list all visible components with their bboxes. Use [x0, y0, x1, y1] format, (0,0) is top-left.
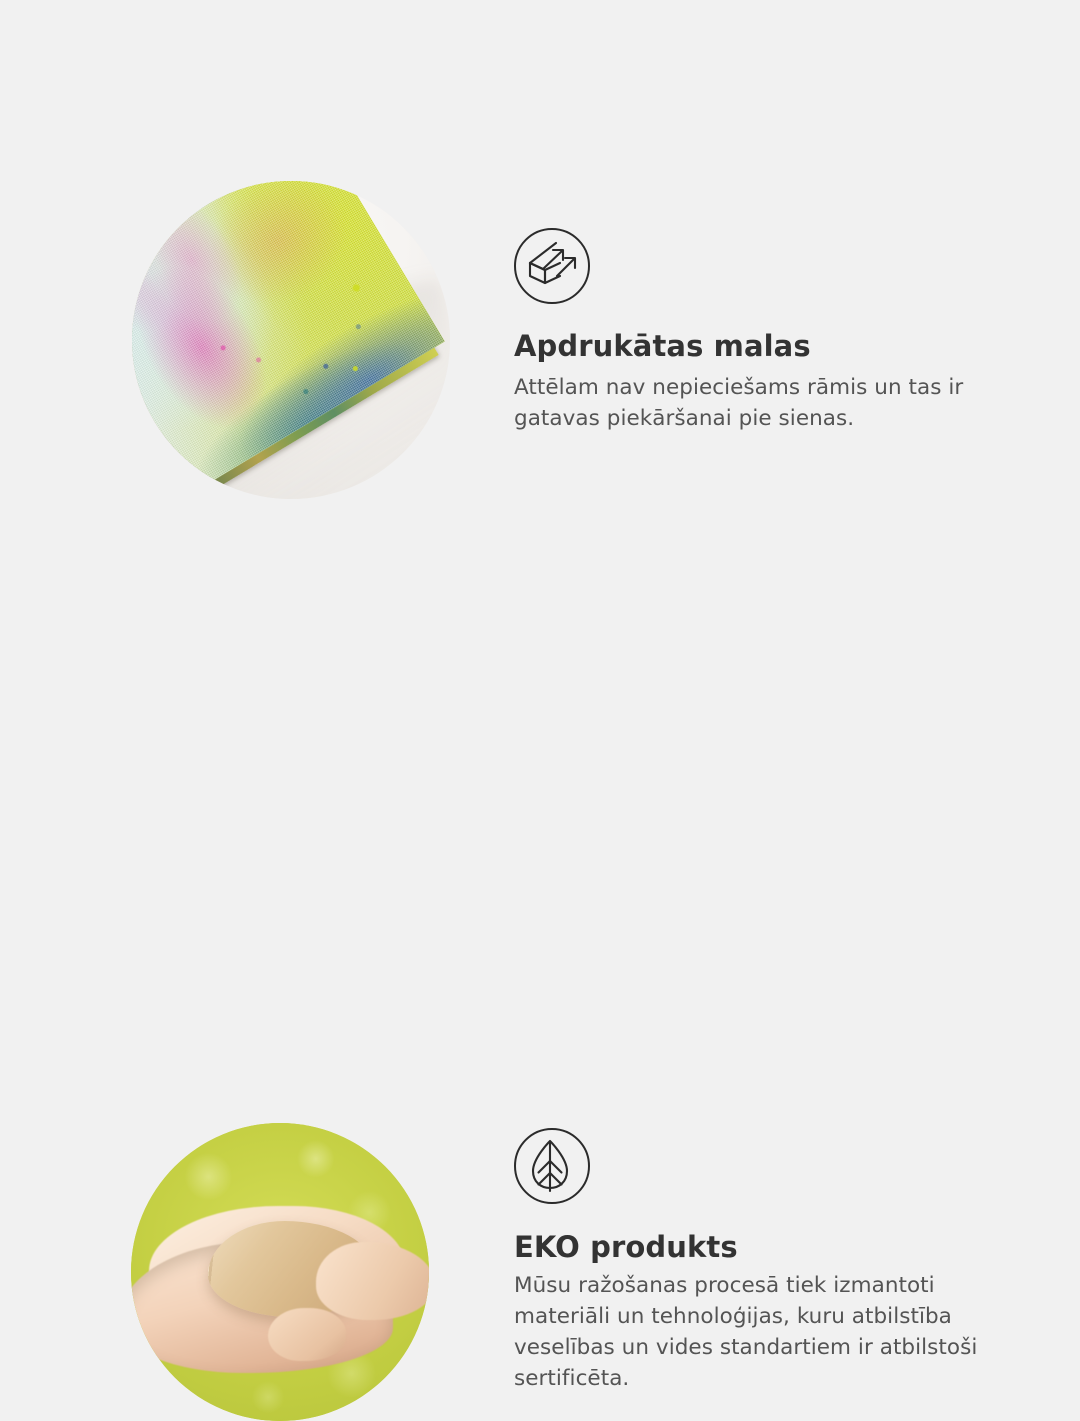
printed-canvas-edge-icon	[514, 228, 590, 304]
feature-block-eco: EKO produkts Mūsu ražošanas procesā tiek…	[0, 540, 1080, 1080]
feature-title: Apdrukātas malas	[514, 329, 1014, 363]
feature-description: Attēlam nav nepieciešams rāmis un tas ir…	[514, 372, 994, 434]
feature-description: Mūsu ražošanas procesā tiek izmantoti ma…	[514, 1270, 1014, 1394]
leaf-icon	[514, 1128, 590, 1204]
feature-list-page: Apdrukātas malas Attēlam nav nepieciešam…	[0, 0, 1080, 1080]
canvas-print-corner-photo	[132, 181, 450, 499]
feature-block-printed-edges: Apdrukātas malas Attēlam nav nepieciešam…	[0, 0, 1080, 540]
feature-text-eco: EKO produkts Mūsu ražošanas procesā tiek…	[514, 1128, 1019, 1394]
hand-thumb	[268, 1308, 345, 1362]
feature-title: EKO produkts	[514, 1230, 1019, 1264]
canvas-print	[132, 181, 450, 499]
canvas-printed-face	[132, 181, 445, 497]
hands-holding-wood-chips-photo	[131, 1123, 429, 1421]
hand-fingers	[316, 1242, 429, 1319]
feature-text-printed-edges: Apdrukātas malas Attēlam nav nepieciešam…	[514, 228, 1014, 434]
